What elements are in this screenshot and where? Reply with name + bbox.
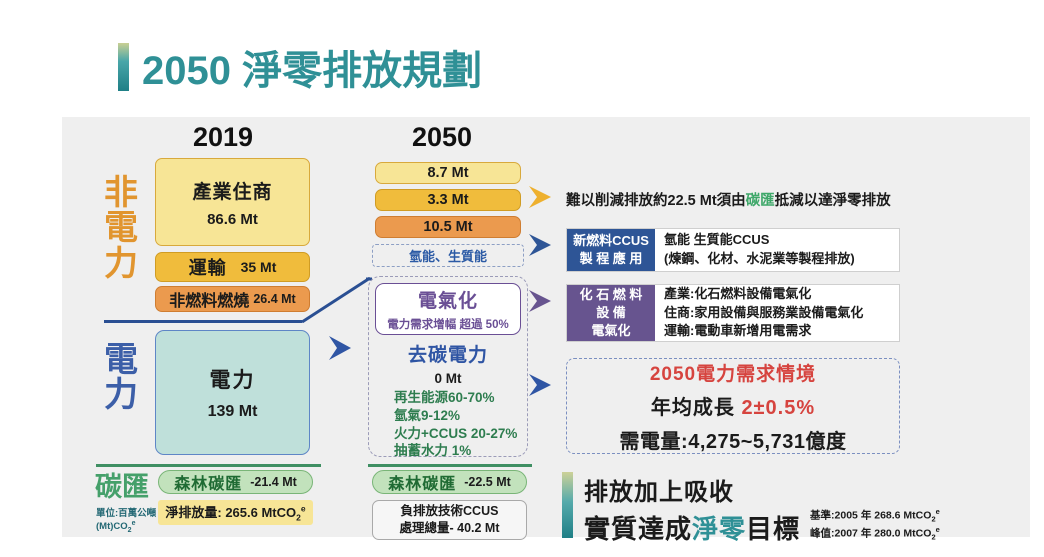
- panel-body: 氫能 生質能CCUS (煉鋼、化材、水泥業等製程排放): [655, 229, 864, 271]
- decarb-power-zero: 0 Mt: [372, 371, 524, 386]
- conclusion-line2-pre: 實質達成: [584, 509, 692, 546]
- bar-non-fuel-combustion-2019: 非燃料燃燒 26.4 Mt: [155, 286, 310, 312]
- bar-value: 86.6 Mt: [207, 211, 258, 228]
- note-highlight: 碳匯: [746, 193, 775, 209]
- bar-label: 森林碳匯: [388, 470, 456, 494]
- conclusion-line2: 實質達成淨零目標: [584, 509, 800, 546]
- divider-sink-left: [96, 464, 321, 467]
- arrow-right-purple-icon: [527, 288, 557, 314]
- bar-industry-residential-2019: 產業住商 86.6 Mt: [155, 158, 310, 246]
- column-header-2019: 2019: [193, 122, 253, 153]
- panel-body-line: 住商:家用設備與服務業設備電氣化: [664, 304, 863, 323]
- panel-power-demand-scenario: 2050電力需求情境 年均成長 2±0.5% 需電量:4,275~5,731億度: [566, 358, 900, 454]
- box-hydrogen-biomass: 氫能、生質能: [372, 244, 524, 267]
- conclusion-references: 基準:2005 年 268.6 MtCO2e 峰值:2007 年 280.0 M…: [810, 472, 940, 546]
- infographic-root: 2050 淨零排放規劃 2019 2050 非電力 電力 碳匯 單位:百萬公噸 …: [0, 0, 1044, 557]
- conclusion-line1: 排放加上吸收: [584, 472, 800, 507]
- column-header-2050: 2050: [412, 122, 472, 153]
- divider-sink-mid: [368, 464, 532, 467]
- list-item: 抽蓄水力 1%: [394, 442, 524, 460]
- panel-body-line: 產業:化石燃料設備電氣化: [664, 285, 863, 304]
- title-accent-bar: [118, 43, 129, 91]
- bar-electricity-2019: 電力 139 Mt: [155, 330, 310, 455]
- bar-non-fuel-combustion-2050: 10.5 Mt: [375, 216, 521, 238]
- list-item: 再生能源60-70%: [394, 389, 524, 407]
- panel-header: 化 石 燃 料 設 備 電氣化: [567, 285, 655, 341]
- note-post: 抵減以達淨零排放: [775, 193, 891, 209]
- conclusion-line2-post: 目標: [746, 509, 800, 546]
- bar-value: -22.5 Mt: [464, 475, 511, 489]
- unit-note: 單位:百萬公噸 (Mt)CO2e: [96, 508, 164, 536]
- panel-body: 產業:化石燃料設備電氣化 住商:家用設備與服務業設備電氣化 運輸:電動車新增用電…: [655, 285, 872, 341]
- demand-total: 需電量:4,275~5,731億度: [620, 425, 847, 454]
- page-title: 2050 淨零排放規劃: [118, 38, 482, 96]
- bar-industry-residential-2050: 8.7 Mt: [375, 162, 521, 184]
- page-title-text: 2050 淨零排放規劃: [142, 38, 482, 96]
- side-label-carbon-sink: 碳匯: [93, 473, 151, 501]
- demand-title: 2050電力需求情境: [650, 359, 816, 386]
- arrow-right-blue2-icon: [527, 372, 557, 398]
- decarb-power-title: 去碳電力: [372, 340, 524, 367]
- diagonal-connector: [302, 277, 372, 323]
- negative-emissions-line1: 負排放技術CCUS: [401, 503, 499, 520]
- unit-note-line2: (Mt)CO2e: [96, 521, 135, 532]
- panel-body-line: (煉鋼、化材、水泥業等製程排放): [664, 250, 855, 269]
- electrification-title: 電氣化: [418, 286, 478, 313]
- panel-fossil-fuel-electrification: 化 石 燃 料 設 備 電氣化 產業:化石燃料設備電氣化 住商:家用設備與服務業…: [566, 284, 900, 342]
- conclusion-accent-bar: [562, 472, 573, 538]
- bar-label: 非燃料燃燒: [169, 287, 249, 311]
- panel-header-line3: 電氣化: [591, 322, 630, 340]
- bar-value: 35 Mt: [241, 259, 277, 275]
- electrification-subtitle: 電力需求增幅 超過 50%: [387, 316, 508, 332]
- list-item: 氫氣9-12%: [394, 407, 524, 425]
- box-electrification: 電氣化 電力需求增幅 超過 50%: [375, 283, 521, 335]
- bar-label: 產業住商: [192, 177, 272, 204]
- bar-value: -21.4 Mt: [250, 475, 297, 489]
- panel-header-line2: 製 程 應 用: [580, 250, 643, 268]
- bar-transport-2019: 運輸 35 Mt: [155, 252, 310, 282]
- conclusion-line2-highlight: 淨零: [692, 509, 746, 546]
- bar-value: 139 Mt: [208, 403, 258, 421]
- panel-header-line2: 設 備: [596, 304, 626, 322]
- reference-baseline: 基準:2005 年 268.6 MtCO2e: [810, 507, 940, 525]
- list-item: 火力+CCUS 20-27%: [394, 425, 524, 443]
- box-negative-emissions: 負排放技術CCUS 處理總量- 40.2 Mt: [372, 500, 527, 540]
- arrow-transition-icon: [326, 333, 358, 363]
- bar-label: 運輸: [189, 254, 227, 280]
- panel-body-line: 氫能 生質能CCUS: [664, 231, 855, 250]
- negative-emissions-line2: 處理總量- 40.2 Mt: [399, 520, 499, 537]
- bar-forest-sink-2019: 森林碳匯 -21.4 Mt: [158, 470, 313, 494]
- demand-growth: 年均成長 2±0.5%: [651, 391, 815, 420]
- conclusion-lines: 排放加上吸收 實質達成淨零目標: [584, 472, 800, 546]
- residual-emissions-note: 難以削減排放約22.5 Mt須由碳匯抵減以達淨零排放: [566, 189, 891, 210]
- reference-peak: 峰值:2007 年 280.0 MtCO2e: [810, 525, 940, 543]
- box-decarbonized-power: 去碳電力 0 Mt 再生能源60-70% 氫氣9-12% 火力+CCUS 20-…: [372, 340, 524, 460]
- panel-body-line: 運輸:電動車新增用電需求: [664, 322, 863, 341]
- unit-note-line1: 單位:百萬公噸: [96, 508, 156, 519]
- panel-new-fuel-ccus: 新燃料CCUS 製 程 應 用 氫能 生質能CCUS (煉鋼、化材、水泥業等製程…: [566, 228, 900, 272]
- decarb-power-list: 再生能源60-70% 氫氣9-12% 火力+CCUS 20-27% 抽蓄水力 1…: [372, 389, 524, 460]
- bar-label: 電力: [210, 364, 256, 394]
- divider-power-boundary: [104, 320, 302, 323]
- bar-forest-sink-2050: 森林碳匯 -22.5 Mt: [372, 470, 527, 494]
- bar-transport-2050: 3.3 Mt: [375, 189, 521, 211]
- bar-value: 26.4 Mt: [253, 292, 295, 306]
- panel-header-line1: 新燃料CCUS: [573, 232, 649, 250]
- panel-header-line1: 化 石 燃 料: [580, 286, 643, 304]
- net-emissions-label: 淨排放量: 265.6 MtCO2e: [165, 502, 305, 523]
- note-pre: 難以削減排放約22.5 Mt須由: [566, 193, 746, 209]
- bar-label: 森林碳匯: [174, 470, 242, 494]
- arrow-right-yellow-icon: [527, 184, 557, 210]
- side-label-non-power: 非電力: [98, 176, 144, 282]
- bar-net-emissions-2019: 淨排放量: 265.6 MtCO2e: [158, 500, 313, 525]
- panel-header: 新燃料CCUS 製 程 應 用: [567, 229, 655, 271]
- conclusion-block: 排放加上吸收 實質達成淨零目標 基準:2005 年 268.6 MtCO2e 峰…: [562, 472, 940, 546]
- arrow-right-blue-icon: [527, 232, 557, 258]
- side-label-power: 電力: [98, 343, 144, 414]
